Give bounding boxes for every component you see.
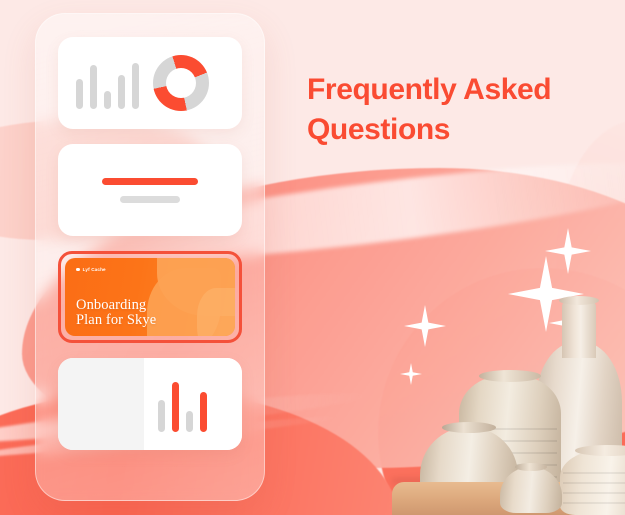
card-onboarding-selected[interactable]: Lyf Cache Onboarding Plan for Skye: [58, 251, 242, 343]
page-title-line-1: Frequently Asked: [307, 70, 607, 110]
vase-body: [560, 450, 625, 515]
muted-line: [120, 196, 180, 203]
sparkle-tiny-icon: [404, 305, 446, 347]
document-preview-panel: Lyf Cache Onboarding Plan for Skye: [35, 13, 265, 501]
sparkle-mini-icon: [400, 363, 422, 385]
vase-neck: [562, 300, 596, 358]
card-title-line-2: Plan for Skye: [76, 313, 156, 328]
bar-chart: [76, 57, 139, 109]
card-right-pane: [144, 358, 242, 450]
brand-label-text: Lyf Cache: [83, 267, 106, 272]
vase-small-ball: [500, 463, 562, 513]
card-title-line-1: Onboarding: [76, 298, 156, 313]
bullet-dot-icon: [76, 268, 80, 272]
card-split-chart[interactable]: [58, 358, 242, 450]
screenshot-stage: Frequently Asked Questions: [0, 0, 625, 515]
vase-lip: [479, 370, 541, 382]
bar-chart: [158, 380, 207, 432]
vase-body: [500, 467, 562, 513]
card-left-pane: [58, 358, 144, 450]
vase-lip: [559, 296, 599, 305]
card-title: Onboarding Plan for Skye: [76, 298, 156, 328]
vase-lip: [515, 463, 547, 471]
decor-shape-3: [197, 288, 235, 336]
brand-label: Lyf Cache: [76, 267, 106, 272]
card-surface: Lyf Cache Onboarding Plan for Skye: [65, 258, 235, 336]
card-charts[interactable]: [58, 37, 242, 129]
vase-ribbed-wide-pot: [560, 445, 625, 515]
donut-chart: [153, 55, 209, 111]
card-text-placeholder[interactable]: [58, 144, 242, 236]
vase-lip: [442, 422, 496, 433]
page-title: Frequently Asked Questions: [307, 70, 607, 149]
accent-line: [102, 178, 198, 185]
page-title-line-2: Questions: [307, 110, 607, 150]
